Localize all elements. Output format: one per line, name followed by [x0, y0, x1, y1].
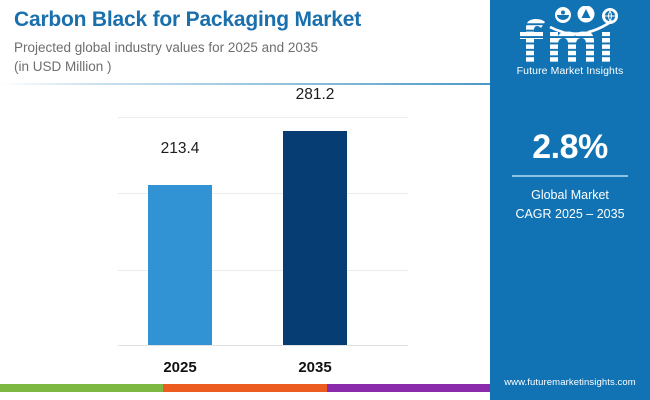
fmi-logo-caption: Future Market Insights	[490, 65, 650, 77]
bar-value-2035: 281.2	[255, 86, 375, 104]
category-label-2035: 2035	[255, 359, 375, 376]
strip-segment-green	[0, 384, 163, 392]
content-area: Carbon Black for Packaging Market Projec…	[0, 0, 490, 392]
cagr-caption-line-1: Global Market	[490, 186, 650, 205]
cagr-divider	[512, 175, 628, 177]
header: Carbon Black for Packaging Market Projec…	[0, 0, 490, 84]
bottom-color-strip	[0, 384, 490, 392]
gridline-330	[118, 117, 408, 118]
bar-2035[interactable]	[283, 131, 347, 345]
subtitle-line-1: Projected global industry values for 202…	[14, 38, 318, 57]
website-url[interactable]: www.futuremarketinsights.com	[490, 377, 650, 388]
cagr-caption-line-2: CAGR 2025 – 2035	[490, 205, 650, 224]
logo-badge-icons	[555, 6, 618, 24]
page-title: Carbon Black for Packaging Market	[14, 8, 361, 32]
cagr-callout: 2.8% Global Market CAGR 2025 – 2035	[490, 128, 650, 224]
fmi-logo-svg	[504, 6, 636, 64]
strip-segment-orange	[163, 384, 326, 392]
logo-lettering	[520, 19, 610, 62]
page-subtitle: Projected global industry values for 202…	[14, 38, 318, 76]
category-label-2025: 2025	[120, 359, 240, 376]
brand-panel: Future Market Insights 2.8% Global Marke…	[490, 0, 650, 400]
infographic-canvas: Carbon Black for Packaging Market Projec…	[0, 0, 650, 400]
bar-2025[interactable]	[148, 185, 212, 345]
subtitle-line-2: (in USD Million )	[14, 57, 318, 76]
fmi-logo-mark	[504, 6, 636, 64]
fmi-logo[interactable]: Future Market Insights	[490, 6, 650, 77]
bar-chart-plot: 213.4 281.2 2025 2035	[0, 84, 490, 392]
strip-segment-purple	[327, 384, 490, 392]
cagr-value: 2.8%	[490, 128, 650, 167]
bar-value-2025: 213.4	[120, 140, 240, 158]
axis-baseline	[118, 345, 408, 346]
